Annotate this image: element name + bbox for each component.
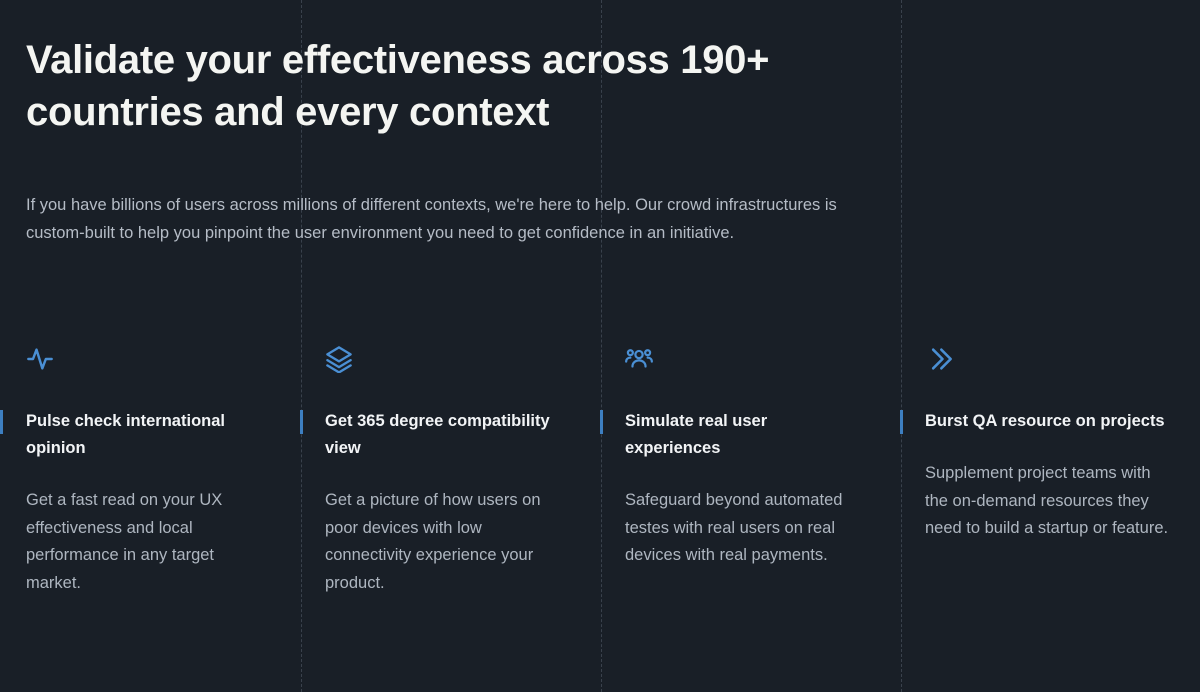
feature-card-compatibility-view[interactable]: Get 365 degree compatibility view Get a … (300, 345, 600, 597)
layers-stack-icon (325, 345, 562, 385)
accent-bar (600, 410, 603, 434)
feature-title: Burst QA resource on projects (925, 408, 1176, 435)
activity-pulse-icon (26, 345, 262, 385)
feature-card-burst-qa[interactable]: Burst QA resource on projects Supplement… (900, 345, 1200, 597)
feature-title: Get 365 degree compatibility view (325, 408, 562, 462)
feature-body: Get a fast read on your UX effectiveness… (26, 462, 262, 597)
accent-bar (300, 410, 303, 434)
feature-section: Validate your effectiveness across 190+ … (0, 0, 1200, 692)
users-group-icon (625, 345, 862, 385)
feature-heading-wrap: Get 365 degree compatibility view (325, 408, 562, 462)
feature-body: Safeguard beyond automated testes with r… (625, 462, 862, 570)
feature-body: Supplement project teams with the on-dem… (925, 435, 1176, 543)
accent-bar (900, 410, 903, 434)
page-title: Validate your effectiveness across 190+ … (26, 0, 826, 138)
feature-grid: Pulse check international opinion Get a … (0, 345, 1200, 597)
feature-heading-wrap: Burst QA resource on projects (925, 408, 1176, 435)
feature-card-simulate-users[interactable]: Simulate real user experiences Safeguard… (600, 345, 900, 597)
feature-body: Get a picture of how users on poor devic… (325, 462, 562, 597)
double-chevron-right-icon (925, 345, 1176, 385)
feature-title: Pulse check international opinion (26, 408, 262, 462)
feature-card-pulse-check[interactable]: Pulse check international opinion Get a … (0, 345, 300, 597)
feature-heading-wrap: Pulse check international opinion (26, 408, 262, 462)
page-subtitle: If you have billions of users across mil… (26, 138, 878, 247)
feature-title: Simulate real user experiences (625, 408, 862, 462)
accent-bar (0, 410, 3, 434)
feature-heading-wrap: Simulate real user experiences (625, 408, 862, 462)
